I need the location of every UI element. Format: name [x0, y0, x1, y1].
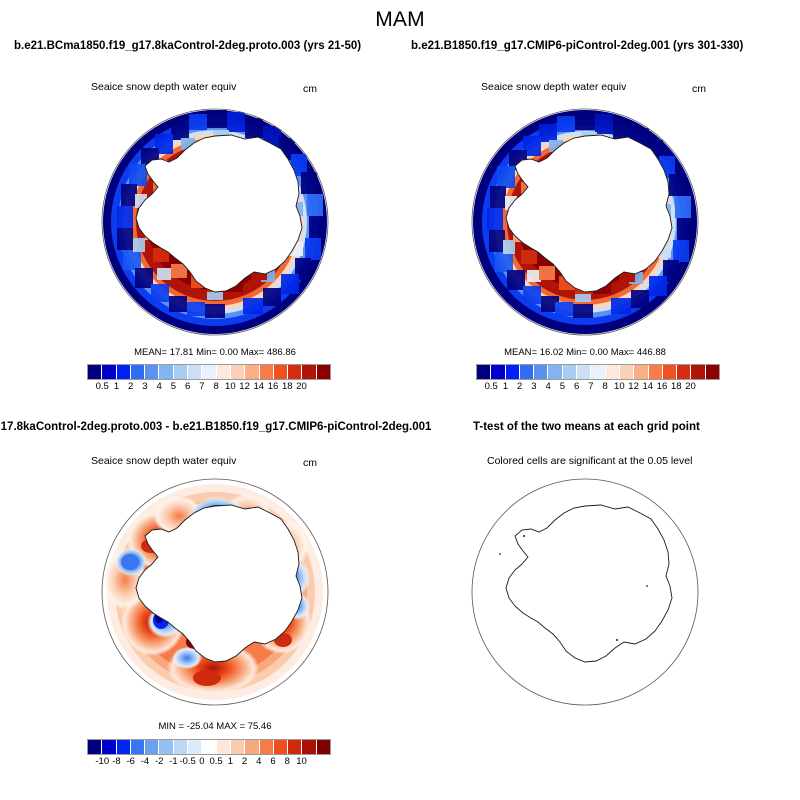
colorbar-cell	[130, 740, 144, 754]
colorbar-cell	[533, 365, 547, 379]
colorbar-tick-label: -2	[155, 756, 163, 767]
colorbar-tick-label: 2	[242, 756, 247, 767]
case-title-bottom-left: b.e21.BCma1850.f19_g17.8kaControl-2deg.p…	[0, 421, 431, 433]
map-panel-bottom-left	[95, 472, 335, 712]
colorbar-cell	[144, 740, 158, 754]
colorbar-cell	[88, 365, 101, 379]
colorbar-tick-label: 2	[517, 381, 522, 392]
map-panel-top-right	[465, 102, 705, 342]
colorbar-cell	[619, 365, 633, 379]
colorbar-cell	[230, 365, 244, 379]
stats-top-right: MEAN= 16.02 Min= 0.00 Max= 446.88	[465, 347, 705, 358]
colorbar-tick-label: -4	[141, 756, 149, 767]
colorbar-tick-label: 4	[256, 756, 261, 767]
colorbar-tick-label: 5	[560, 381, 565, 392]
panel-sub-label-bottom-right: Colored cells are significant at the 0.0…	[487, 455, 692, 467]
colorbar-cell	[187, 740, 201, 754]
antarctic-map-absolute-1	[95, 102, 335, 342]
colorbar-cell	[676, 365, 690, 379]
island-mark	[646, 585, 648, 587]
figure-title: MAM	[0, 8, 800, 32]
map-panel-bottom-right	[465, 472, 705, 712]
colorbar-tick-label: 10	[614, 381, 625, 392]
colorbar-tick-label: 20	[685, 381, 696, 392]
colorbar-tick-label: 0.5	[485, 381, 498, 392]
colorbar-cell	[130, 365, 144, 379]
colorbar-tick-label: 1	[228, 756, 233, 767]
antarctic-map-absolute-2	[465, 102, 705, 342]
island-mark	[499, 553, 501, 555]
colorbar-cell	[316, 740, 330, 754]
colorbar-cell	[201, 365, 215, 379]
colorbar-strip-difference	[88, 740, 330, 754]
colorbar-cell	[116, 740, 130, 754]
colorbar-tick-label: 18	[671, 381, 682, 392]
colorbar-cell	[316, 365, 330, 379]
colorbar-cell	[648, 365, 662, 379]
colorbar-cell	[158, 740, 172, 754]
colorbar-tick-label: -1	[169, 756, 177, 767]
colorbar-tick-label: 8	[602, 381, 607, 392]
colorbar-cell	[287, 740, 301, 754]
colorbar-cell	[519, 365, 533, 379]
colorbar-cell	[216, 365, 230, 379]
case-title-bottom-right: T-test of the two means at each grid poi…	[473, 421, 700, 433]
antarctic-map-difference	[95, 472, 335, 712]
colorbar-cell	[259, 365, 273, 379]
significance-field-empty	[472, 479, 698, 705]
case-title-top-right: b.e21.B1850.f19_g17.CMIP6-piControl-2deg…	[411, 40, 743, 52]
colorbar-cell	[633, 365, 647, 379]
colorbar-tick-label: 20	[296, 381, 307, 392]
colorbar-tick-label: 12	[628, 381, 639, 392]
colorbar-cell	[101, 740, 115, 754]
data-field-top-right	[473, 110, 697, 334]
island-mark	[616, 639, 618, 641]
colorbar-tick-label: 7	[199, 381, 204, 392]
panel-sub-label-bottom-left: Seaice snow depth water equiv	[91, 455, 236, 467]
case-title-top-left: b.e21.BCma1850.f19_g17.8kaControl-2deg.p…	[14, 40, 361, 52]
colorbar-tick-label: 3	[531, 381, 536, 392]
colorbar-cell	[562, 365, 576, 379]
colorbar-cell	[576, 365, 590, 379]
colorbar-tick-label: 16	[657, 381, 668, 392]
island-mark	[523, 535, 525, 537]
colorbar-cell	[144, 365, 158, 379]
colorbar-tick-label: 2	[128, 381, 133, 392]
colorbar-tick-label: -6	[126, 756, 134, 767]
colorbar-tick-label: 14	[254, 381, 265, 392]
colorbar-tick-label: 1	[114, 381, 119, 392]
colorbar-cell	[477, 365, 490, 379]
colorbar-tick-label: 0.5	[210, 756, 223, 767]
colorbar-cell	[605, 365, 619, 379]
colorbar-tick-label: 10	[296, 756, 307, 767]
colorbar-labels-absolute-1: 0.512345678101214161820	[88, 381, 330, 395]
figure-canvas: MAM b.e21.BCma1850.f19_g17.8kaControl-2d…	[0, 0, 800, 800]
colorbar-strip-absolute-2	[477, 365, 719, 379]
colorbar-tick-label: -10	[95, 756, 109, 767]
colorbar-tick-label: 1	[503, 381, 508, 392]
stats-top-left: MEAN= 17.81 Min= 0.00 Max= 486.86	[95, 347, 335, 358]
colorbar-labels-difference: -10-8-6-4-2-1-0.500.51246810	[88, 756, 330, 770]
colorbar-tick-label: -8	[112, 756, 120, 767]
colorbar-tick-label: 12	[239, 381, 250, 392]
colorbar-cell	[116, 365, 130, 379]
colorbar-cell	[301, 365, 315, 379]
colorbar-tick-label: 4	[546, 381, 551, 392]
colorbar-tick-label: 8	[285, 756, 290, 767]
colorbar-cell	[244, 740, 258, 754]
colorbar-cell	[662, 365, 676, 379]
map-panel-top-left	[95, 102, 335, 342]
colorbar-cell	[301, 740, 315, 754]
colorbar-tick-label: 6	[270, 756, 275, 767]
colorbar-cell	[187, 365, 201, 379]
colorbar-tick-label: 18	[282, 381, 293, 392]
colorbar-tick-label: 6	[574, 381, 579, 392]
colorbar-top-right: 0.512345678101214161820	[477, 365, 719, 395]
colorbar-bottom-left: -10-8-6-4-2-1-0.500.51246810	[88, 740, 330, 770]
colorbar-cell	[158, 365, 172, 379]
panel-units-bottom-left: cm	[303, 457, 317, 469]
colorbar-cell	[287, 365, 301, 379]
colorbar-tick-label: 10	[225, 381, 236, 392]
stats-bottom-left: MIN = -25.04 MAX = 75.46	[95, 721, 335, 732]
colorbar-tick-label: 7	[588, 381, 593, 392]
colorbar-cell	[490, 365, 504, 379]
colorbar-cell	[173, 365, 187, 379]
colorbar-cell	[505, 365, 519, 379]
data-field-top-left	[103, 110, 327, 334]
colorbar-tick-label: -0.5	[179, 756, 195, 767]
colorbar-top-left: 0.512345678101214161820	[88, 365, 330, 395]
colorbar-tick-label: 14	[643, 381, 654, 392]
colorbar-cell	[216, 740, 230, 754]
panel-sub-label-top-right: Seaice snow depth water equiv	[481, 81, 626, 93]
colorbar-tick-label: 3	[142, 381, 147, 392]
colorbar-cell	[201, 740, 215, 754]
colorbar-cell	[590, 365, 604, 379]
colorbar-cell	[173, 740, 187, 754]
data-field-difference	[102, 479, 328, 705]
colorbar-tick-label: 0.5	[96, 381, 109, 392]
colorbar-tick-label: 5	[171, 381, 176, 392]
colorbar-tick-label: 8	[213, 381, 218, 392]
colorbar-cell	[101, 365, 115, 379]
colorbar-cell	[547, 365, 561, 379]
colorbar-tick-label: 6	[185, 381, 190, 392]
panel-units-top-right: cm	[692, 83, 706, 95]
colorbar-cell	[690, 365, 704, 379]
colorbar-cell	[273, 740, 287, 754]
colorbar-cell	[705, 365, 719, 379]
colorbar-cell	[88, 740, 101, 754]
colorbar-tick-label: 0	[199, 756, 204, 767]
panel-units-top-left: cm	[303, 83, 317, 95]
colorbar-cell	[244, 365, 258, 379]
colorbar-cell	[273, 365, 287, 379]
colorbar-labels-absolute-2: 0.512345678101214161820	[477, 381, 719, 395]
panel-sub-label-top-left: Seaice snow depth water equiv	[91, 81, 236, 93]
colorbar-cell	[230, 740, 244, 754]
colorbar-cell	[259, 740, 273, 754]
colorbar-strip-absolute-1	[88, 365, 330, 379]
colorbar-tick-label: 16	[268, 381, 279, 392]
colorbar-tick-label: 4	[157, 381, 162, 392]
antarctic-map-ttest	[465, 472, 705, 712]
